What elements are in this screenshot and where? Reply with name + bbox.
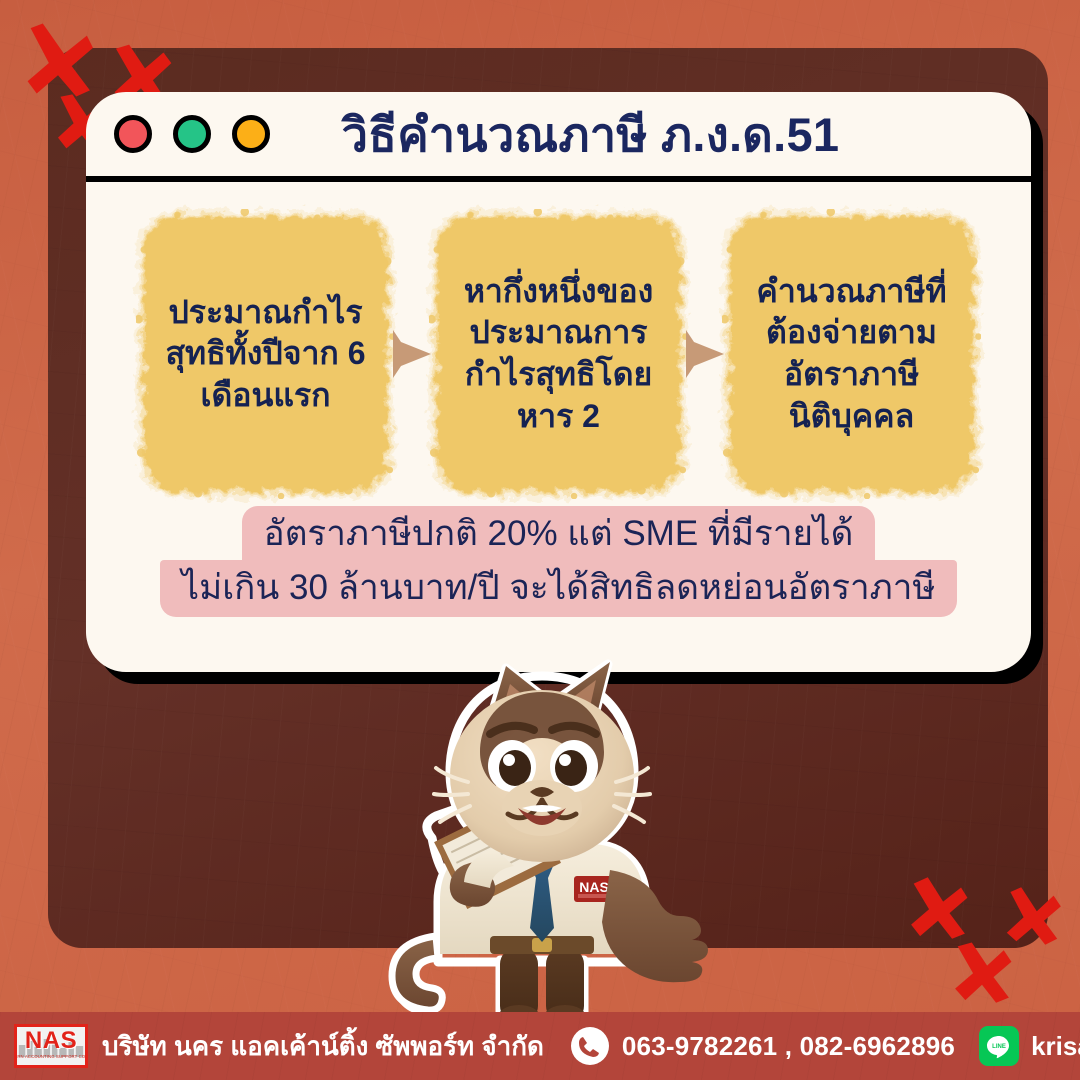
- step-label: หากึ่งหนึ่งของประมาณการกำไรสุทธิโดยหาร 2: [429, 271, 688, 437]
- infographic-canvas: วิธีคำนวณภาษี ภ.ง.ด.51 ประมาณกำไรสุทธิทั…: [0, 0, 1080, 1080]
- x-mark-icon: [950, 940, 1014, 1004]
- window-traffic-lights: [114, 115, 270, 153]
- note-line-1: อัตราภาษีปกติ 20% แต่ SME ที่มีรายได้: [242, 506, 876, 564]
- x-mark-icon: [20, 22, 96, 98]
- maximize-dot-icon[interactable]: [232, 115, 270, 153]
- x-mark-icon: [906, 876, 970, 940]
- page-title: วิธีคำนวณภาษี ภ.ง.ด.51: [270, 97, 911, 172]
- arrow-right-icon: [391, 326, 433, 382]
- footer-phone-number[interactable]: 063-9782261 , 082-6962896: [622, 1031, 955, 1062]
- step-label: คำนวณภาษีที่ต้องจ่ายตามอัตราภาษีนิติบุคค…: [722, 271, 981, 437]
- footer-company-name: บริษัท นคร แอคเค้าน์ติ้ง ซัพพอร์ท จำกัด: [102, 1026, 544, 1067]
- steps-row: ประมาณกำไรสุทธิทั้งปีจาก 6 เดือนแรก หากึ…: [86, 182, 1031, 500]
- step-label: ประมาณกำไรสุทธิทั้งปีจาก 6 เดือนแรก: [136, 292, 395, 417]
- arrow-right-icon: [684, 326, 726, 382]
- nas-logo: NAS NAKORN ACCOUNTING SUPPORT CO., LTD: [14, 1024, 88, 1068]
- step-card-3: คำนวณภาษีที่ต้องจ่ายตามอัตราภาษีนิติบุคค…: [722, 209, 981, 499]
- footer-line-id[interactable]: krisadith, krisadithtk: [1031, 1031, 1080, 1062]
- step-card-1: ประมาณกำไรสุทธิทั้งปีจาก 6 เดือนแรก: [136, 209, 395, 499]
- note-line-2: ไม่เกิน 30 ล้านบาท/ปี จะได้สิทธิลดหย่อนอ…: [160, 560, 958, 618]
- x-mark-icon: [1002, 886, 1062, 946]
- minimize-dot-icon[interactable]: [173, 115, 211, 153]
- phone-icon: [570, 1026, 610, 1066]
- window-titlebar: วิธีคำนวณภาษี ภ.ง.ด.51: [86, 92, 1031, 182]
- window-card: วิธีคำนวณภาษี ภ.ง.ด.51 ประมาณกำไรสุทธิทั…: [86, 92, 1031, 672]
- mascot-cat-illustration: NAS: [372, 648, 712, 1028]
- note-block: อัตราภาษีปกติ 20% แต่ SME ที่มีรายได้ ไม…: [86, 500, 1031, 617]
- cat-tail: [392, 936, 442, 1010]
- step-card-2: หากึ่งหนึ่งของประมาณการกำไรสุทธิโดยหาร 2: [429, 209, 688, 499]
- svg-text:NAS: NAS: [579, 879, 609, 895]
- nas-logo-subtitle: NAKORN ACCOUNTING SUPPORT CO., LTD: [14, 1054, 88, 1060]
- nas-logo-word: NAS: [25, 1028, 77, 1054]
- svg-text:LINE: LINE: [992, 1044, 1006, 1050]
- footer-bar: NAS NAKORN ACCOUNTING SUPPORT CO., LTD บ…: [0, 1012, 1080, 1080]
- line-app-icon[interactable]: LINE: [979, 1026, 1019, 1066]
- close-dot-icon[interactable]: [114, 115, 152, 153]
